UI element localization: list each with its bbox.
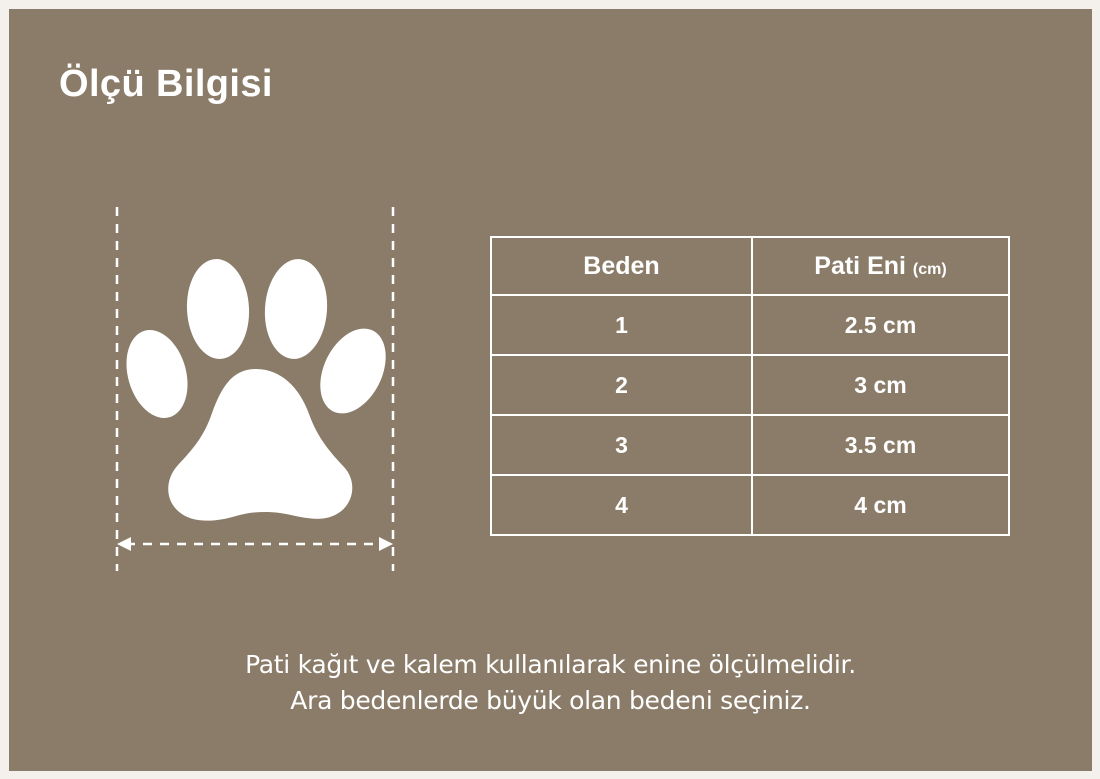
cell-paw-width: 4 cm xyxy=(752,475,1009,535)
measurement-instructions: Pati kağıt ve kalem kullanılarak enine ö… xyxy=(9,647,1092,719)
cell-size: 4 xyxy=(491,475,752,535)
cell-paw-width: 2.5 cm xyxy=(752,295,1009,355)
table-row: 2 3 cm xyxy=(491,355,1009,415)
arrow-right-icon xyxy=(379,537,393,551)
cell-size: 1 xyxy=(491,295,752,355)
table-header-size-label: Beden xyxy=(583,252,659,280)
cell-paw-width: 3 cm xyxy=(752,355,1009,415)
paw-diagram-svg xyxy=(104,199,414,579)
paw-measurement-diagram xyxy=(104,199,414,579)
table-header-size: Beden xyxy=(491,237,752,295)
cell-size: 2 xyxy=(491,355,752,415)
paw-toe-inner-right xyxy=(262,257,331,361)
instruction-line-1: Pati kağıt ve kalem kullanılarak enine ö… xyxy=(9,647,1092,683)
paw-print-icon xyxy=(117,257,399,521)
table-row: 3 3.5 cm xyxy=(491,415,1009,475)
table-header-paw-width-label: Pati Eni xyxy=(814,252,906,280)
table-header-row: Beden Pati Eni (cm) xyxy=(491,237,1009,295)
size-chart-table: Beden Pati Eni (cm) 1 2.5 cm 2 3 cm xyxy=(490,236,1010,536)
paw-toe-inner-left xyxy=(184,257,251,360)
table-row: 4 4 cm xyxy=(491,475,1009,535)
arrow-left-icon xyxy=(117,537,131,551)
table-header-paw-width: Pati Eni (cm) xyxy=(752,237,1009,295)
size-guide-page: Ölçü Bilgisi xyxy=(0,0,1100,779)
size-guide-canvas: Ölçü Bilgisi xyxy=(9,9,1092,771)
paw-toe-outer-left xyxy=(117,323,198,426)
cell-paw-width: 3.5 cm xyxy=(752,415,1009,475)
table-header-paw-width-unit: (cm) xyxy=(913,261,947,278)
instruction-line-2: Ara bedenlerde büyük olan bedeni seçiniz… xyxy=(9,683,1092,719)
table-row: 1 2.5 cm xyxy=(491,295,1009,355)
width-dimension-line xyxy=(117,537,393,551)
cell-size: 3 xyxy=(491,415,752,475)
page-title: Ölçü Bilgisi xyxy=(59,63,273,106)
